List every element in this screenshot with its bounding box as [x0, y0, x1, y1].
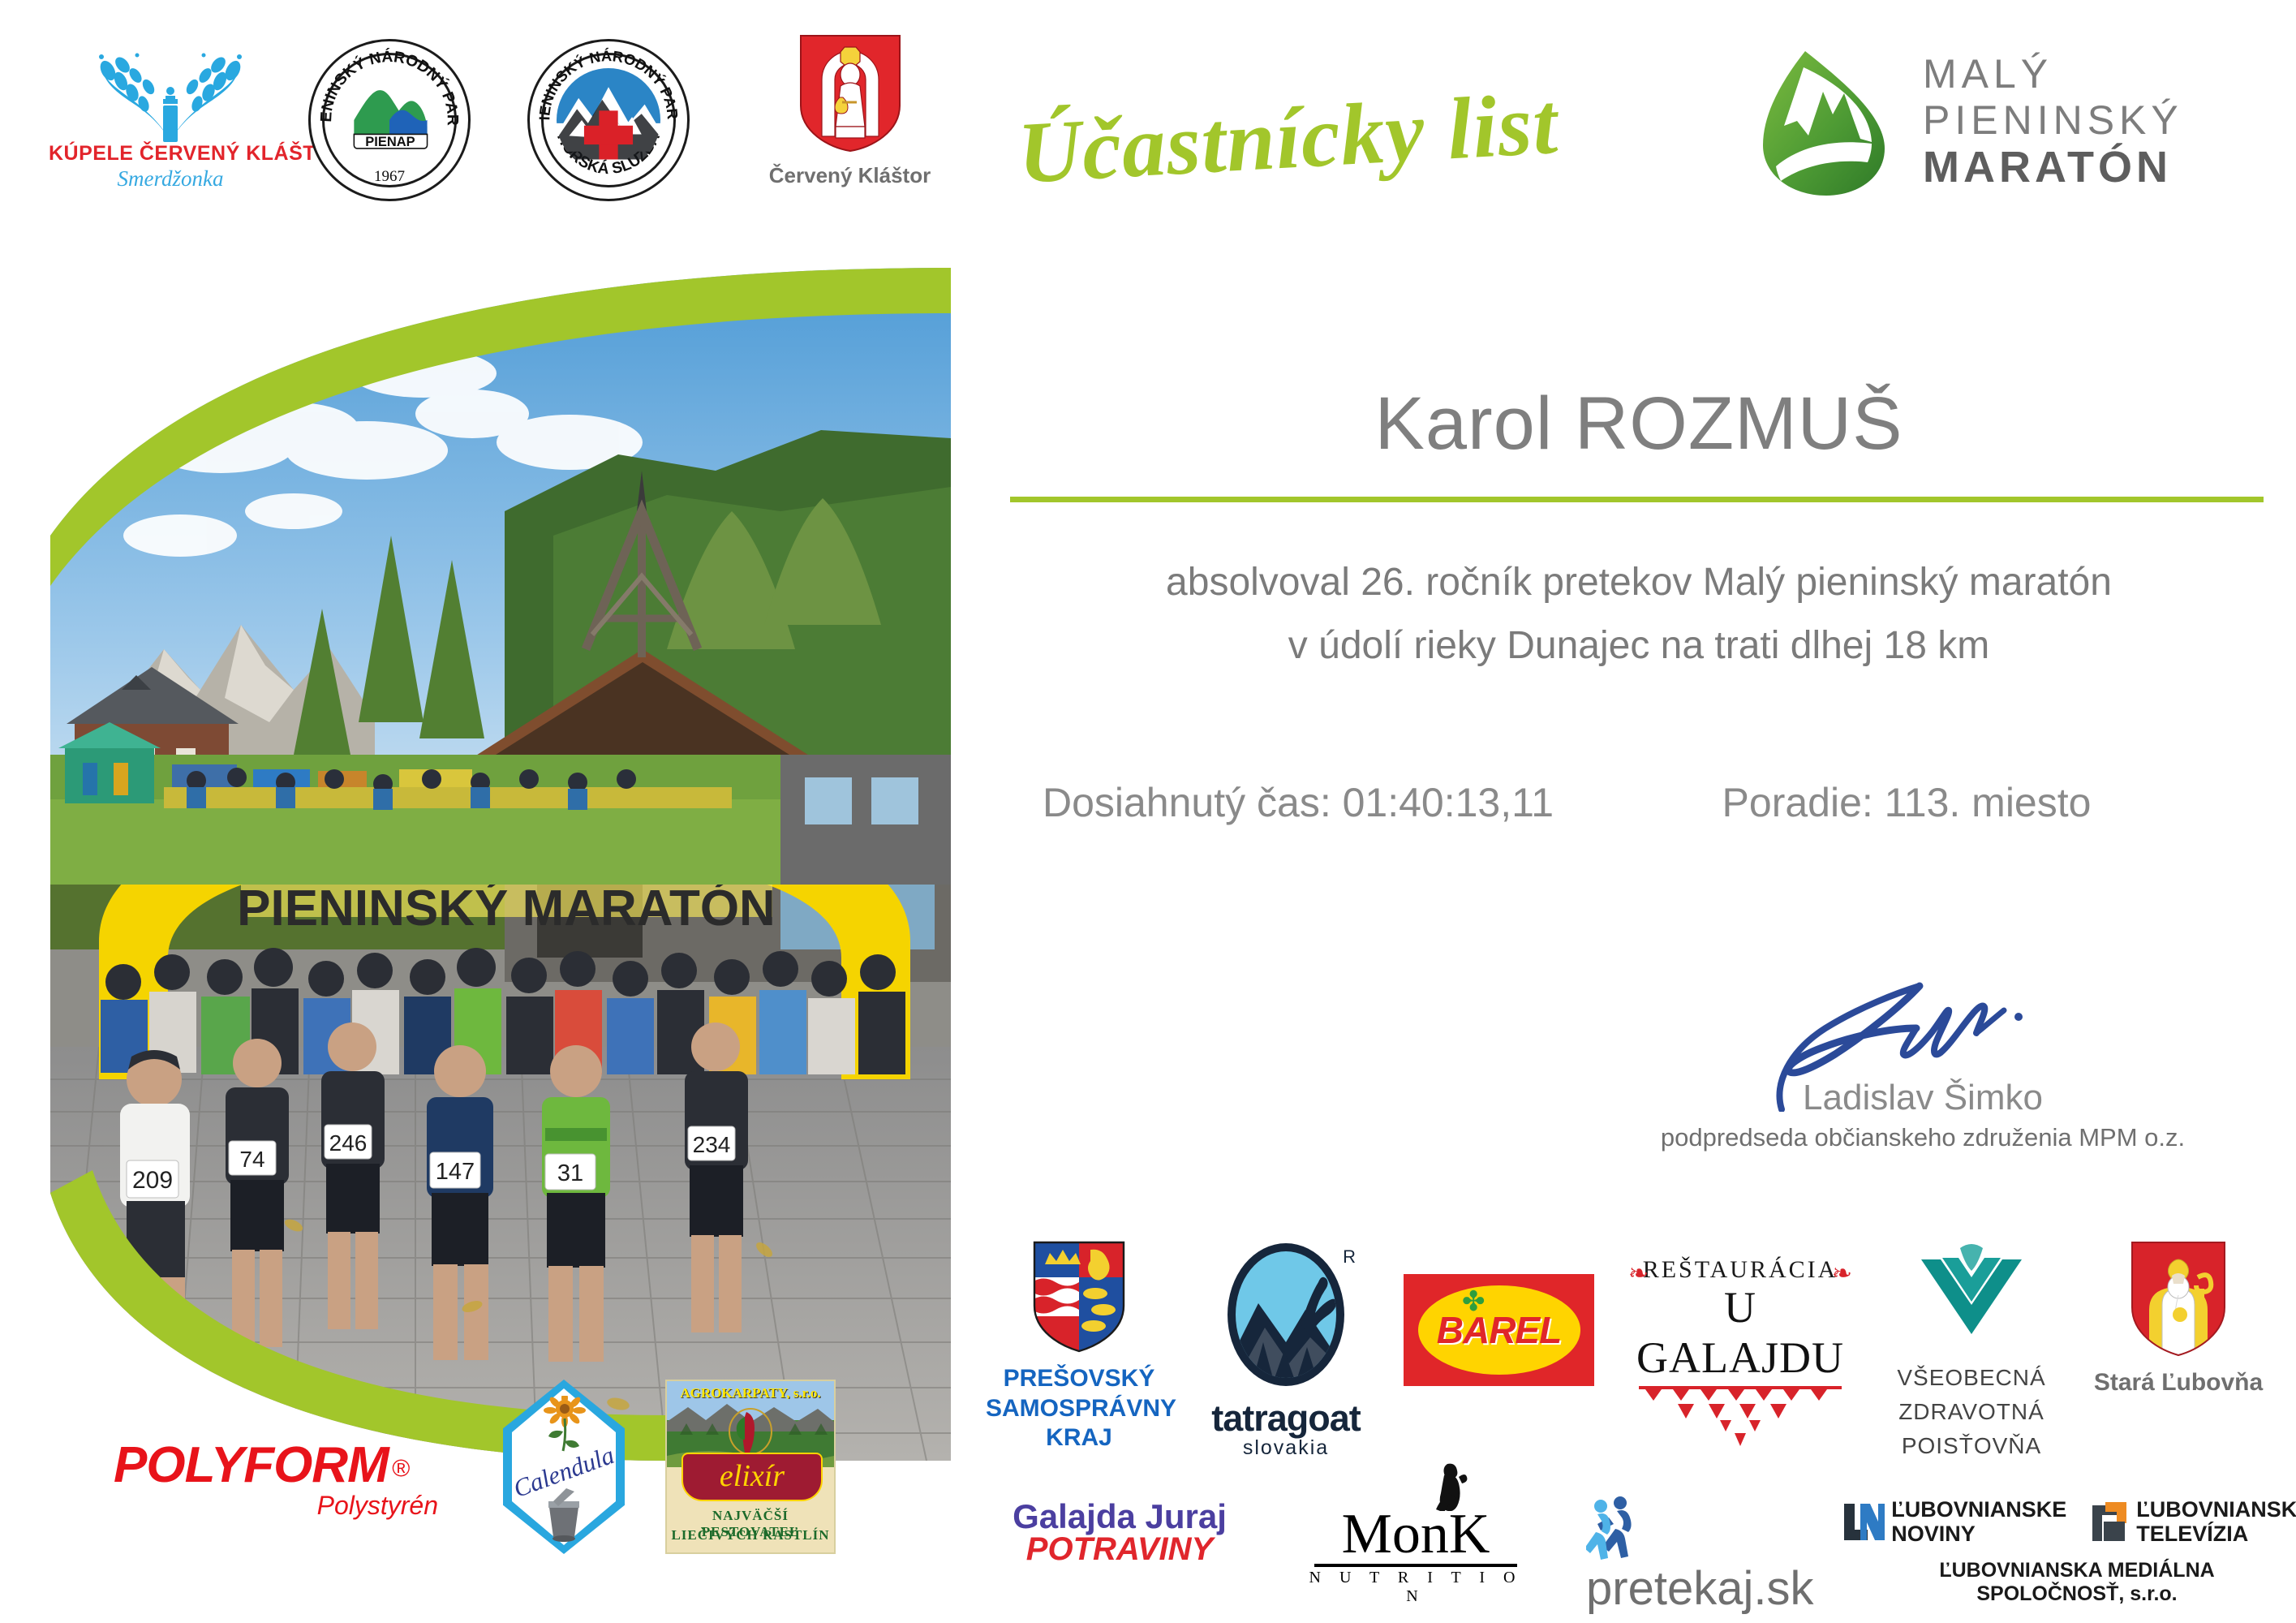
polyform-registered-mark: ®: [392, 1456, 410, 1483]
pienap-center-label: PIENAP: [365, 135, 415, 149]
sponsor-elixir: AGROKARPATY, s.r.o. PLAVNICA elixír NAJV…: [665, 1380, 836, 1554]
calendula-flower-icon: [537, 1396, 594, 1453]
calendula-logo: Calendula: [503, 1380, 625, 1554]
bib-number: 147: [436, 1159, 475, 1185]
achievement-line-1: absolvoval 26. ročník pretekov Malý pien…: [1014, 560, 2264, 605]
recipient-name: Karol ROZMUŠ: [1014, 381, 2264, 467]
monk-sub: N U T R I T I O N: [1298, 1569, 1533, 1606]
presov-line3: KRAJ: [986, 1423, 1172, 1453]
mpm-wordmark: MALÝ PIENINSKÝ MARATÓN: [1923, 51, 2183, 192]
photo-venue: [50, 268, 951, 885]
bib-number: 74: [239, 1147, 264, 1172]
event-photo-collage: MALÝ PIENINSKÝ MARATÓN: [50, 268, 951, 1461]
kupele-line2: Smerdžonka: [49, 166, 292, 192]
photo-collage-svg: MALÝ PIENINSKÝ MARATÓN: [50, 268, 951, 1461]
stara-lubovna-label: Stará Ľubovňa: [2085, 1369, 2272, 1397]
media-footer: ĽUBOVNIANSKA MEDIÁLNA SPOLOČNOSŤ, s.r.o.: [1866, 1559, 2288, 1606]
ln-line2: NOVINY: [1891, 1522, 2066, 1546]
lt-logo-icon: [2089, 1500, 2130, 1543]
spa-wings-icon: [85, 49, 256, 142]
bib-number: 31: [557, 1160, 583, 1186]
vszp-line2: ZDRAVOTNÁ: [1874, 1395, 2069, 1429]
lubovnianske-noviny: ĽUBOVNIANSKE NOVINY: [1841, 1497, 2066, 1546]
lt-line2: TELEVÍZIA: [2136, 1522, 2296, 1546]
folk-motif-right-icon: ❧: [1832, 1259, 1852, 1288]
logo-kupele-cerveny-klastor: KÚPELE ČERVENÝ KLÁŠTOR Smerdžonka: [49, 49, 292, 192]
sponsor-galajda-juraj: Galajda Juraj POTRAVINY: [986, 1497, 1253, 1568]
tatragoat-sub: slovakia: [1180, 1436, 1391, 1460]
vszp-line1: VŠEOBECNÁ: [1874, 1361, 2069, 1395]
cerveny-klastor-shield-icon: [798, 32, 903, 154]
signature-block: Ladislav Šimko podpredseda občianskeho z…: [1623, 970, 2223, 1152]
photo-runners: MALÝ PIENINSKÝ MARATÓN: [50, 787, 951, 1461]
monk-name: MonK: [1298, 1508, 1533, 1562]
sponsor-polyform: POLYFORM ® Polystyrén: [114, 1436, 471, 1521]
header-logo-strip: KÚPELE ČERVENÝ KLÁŠTOR Smerdžonka PIENIN…: [49, 32, 965, 243]
tatragoat-chamois-icon: [1221, 1240, 1351, 1390]
sponsor-lubovnianska-media: ĽUBOVNIANSKE NOVINY ĽUBOVNIANSKA TELEVÍZ…: [1866, 1497, 2288, 1606]
sponsor-vszp: VŠEOBECNÁ ZDRAVOTNÁ POISŤOVŇA: [1874, 1243, 2069, 1463]
bib-number: 209: [132, 1167, 173, 1194]
polyform-name: POLYFORM: [114, 1437, 389, 1493]
mpm-line1: MALÝ: [1923, 51, 2183, 97]
tatragoat-name: tatragoat: [1180, 1397, 1391, 1440]
pienap-year: 1967: [311, 168, 468, 186]
result-place: Poradie: 113. miesto: [1647, 779, 2166, 826]
sponsor-calendula: Calendula: [503, 1380, 625, 1554]
sponsor-tatragoat: R tatragoat slovakia: [1180, 1240, 1391, 1460]
horska-sluzba-seal: PIENINSKÝ NÁRODNÝ PARK HORSKÁ SLUŽBA: [527, 39, 690, 201]
pretekaj-runners-icon: [1586, 1493, 1649, 1561]
presov-crest-icon: [1032, 1240, 1126, 1354]
signature-name: Ladislav Šimko: [1623, 1078, 2223, 1118]
horska-emblem: [530, 41, 687, 199]
sponsor-u-galajdu: ❧ ❧ REŠTAURÁCIA U GALAJDU: [1619, 1256, 1862, 1449]
presov-kraj-label: PREŠOVSKÝ SAMOSPRÁVNY KRAJ: [986, 1364, 1172, 1453]
bib-number: 246: [329, 1130, 368, 1156]
folk-motif-left-icon: ❧: [1628, 1259, 1649, 1288]
galajda-line2: POTRAVINY: [986, 1531, 1253, 1568]
registered-mark: R: [1343, 1246, 1356, 1268]
folk-ornament-icon: [1631, 1384, 1850, 1449]
vszp-line3: POISŤOVŇA: [1874, 1429, 2069, 1463]
sponsor-monk: MonK N U T R I T I O N: [1298, 1461, 1533, 1606]
galajdu-top: REŠTAURÁCIA: [1619, 1256, 1862, 1284]
presov-line1: PREŠOVSKÝ: [986, 1364, 1172, 1394]
galajdu-main: U GALAJDU: [1619, 1282, 1862, 1383]
ln-line1: ĽUBOVNIANSKE: [1891, 1497, 2066, 1522]
lt-line1: ĽUBOVNIANSKA: [2136, 1497, 2296, 1522]
mpm-leaf-mountain-icon: [1748, 45, 1903, 199]
sponsor-presovsky-kraj: PREŠOVSKÝ SAMOSPRÁVNY KRAJ: [986, 1240, 1172, 1453]
vszp-label: VŠEOBECNÁ ZDRAVOTNÁ POISŤOVŇA: [1874, 1361, 2069, 1463]
barel-logo: ✤ BAREL: [1404, 1274, 1594, 1386]
crest-label: Červený Kláštor: [734, 163, 965, 188]
galajda-line1: Galajda Juraj: [986, 1497, 1253, 1536]
mortar-pestle-icon: [542, 1488, 586, 1542]
kupele-line1: KÚPELE ČERVENÝ KLÁŠTOR: [49, 142, 292, 166]
signature-role: podpredseda občianskeho združenia MPM o.…: [1623, 1123, 2223, 1152]
mpm-line2: PIENINSKÝ: [1923, 97, 2183, 144]
mpm-brand-logo: MALÝ PIENINSKÝ MARATÓN: [1748, 45, 2268, 199]
presov-line2: SAMOSPRÁVNY: [986, 1394, 1172, 1424]
sponsor-stara-lubovna: Stará Ľubovňa: [2085, 1240, 2272, 1397]
sponsor-barel: ✤ BAREL: [1404, 1274, 1594, 1386]
page-title: Účastnícky list: [1016, 74, 1561, 204]
elixir-name: elixír: [683, 1454, 821, 1498]
achievement-line-2: v údolí rieky Dunajec na trati dlhej 18 …: [1014, 623, 2264, 668]
arch-line2: PIENINSKÝ MARATÓN: [237, 880, 776, 936]
barel-name: BAREL: [1404, 1308, 1594, 1352]
pienap-seal: PIENINSKÝ NÁRODNÝ PARK PIENAP 1967: [308, 39, 471, 201]
ln-logo-icon: [1841, 1500, 1885, 1543]
pretekaj-name: pretekaj.sk: [1586, 1562, 1813, 1615]
sponsor-pretekaj: pretekaj.sk: [1586, 1493, 1854, 1616]
result-time: Dosiahnutý čas: 01:40:13,11: [1014, 779, 1582, 826]
vszp-chevron-heart-icon: [1915, 1243, 2028, 1349]
mpm-line3: MARATÓN: [1923, 144, 2183, 192]
logo-pienap: PIENINSKÝ NÁRODNÝ PARK PIENAP 1967: [308, 39, 483, 201]
elixir-logo: AGROKARPATY, s.r.o. PLAVNICA elixír NAJV…: [665, 1380, 836, 1554]
logo-cerveny-klastor-crest: Červený Kláštor: [734, 32, 965, 188]
lubovnianska-televizia: ĽUBOVNIANSKA TELEVÍZIA: [2089, 1497, 2296, 1546]
logo-horska-sluzba: PIENINSKÝ NÁRODNÝ PARK HORSKÁ SLUŽBA: [527, 39, 702, 201]
name-underline-rule: [1010, 497, 2264, 502]
elixir-bottom-2: LIEČIVÝCH RASTLÍN: [667, 1527, 834, 1543]
bib-number: 234: [693, 1132, 731, 1157]
polyform-sub: Polystyrén: [114, 1491, 438, 1521]
elixir-banner: elixír: [681, 1453, 823, 1501]
stara-lubovna-crest-icon: [2130, 1240, 2227, 1360]
